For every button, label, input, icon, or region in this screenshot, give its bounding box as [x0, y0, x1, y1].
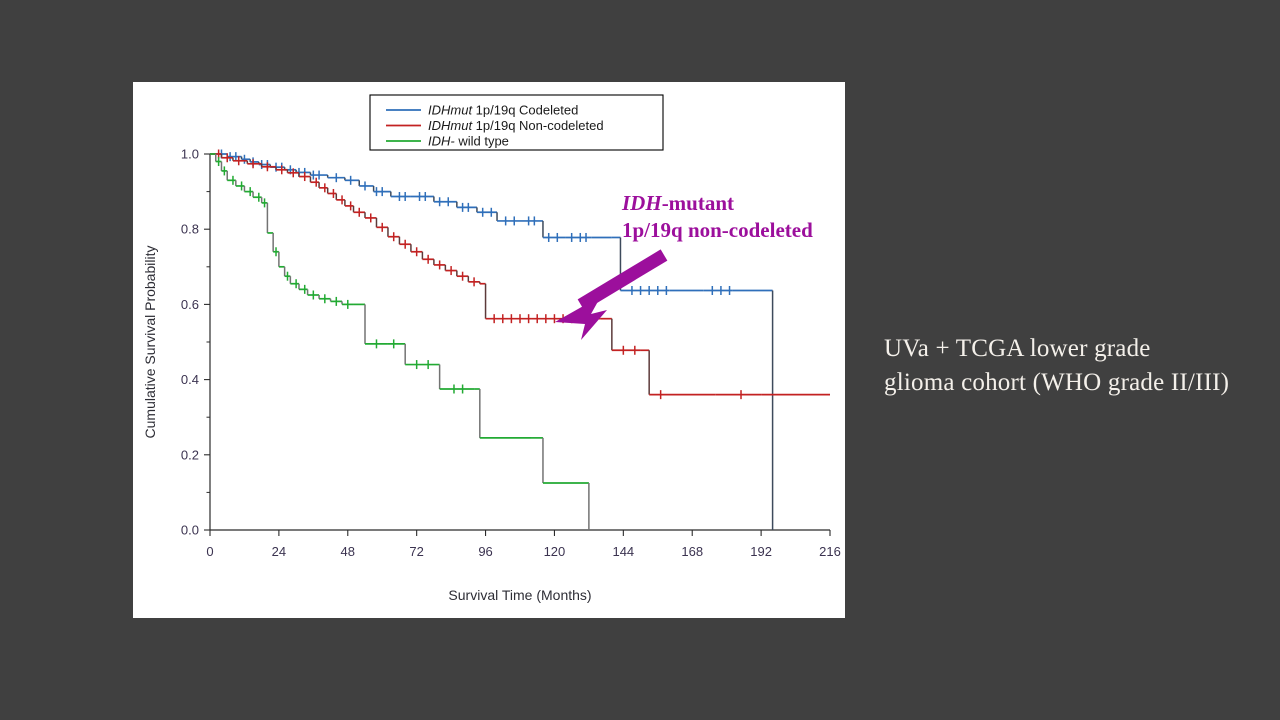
y-tick-label: 0.4 [181, 372, 199, 387]
legend-label: IDHmut 1p/19q Non-codeleted [428, 118, 604, 133]
x-tick-label: 48 [341, 544, 355, 559]
cohort-caption-line-1: UVa + TCGA lower grade [884, 332, 1264, 366]
annotation-line-2: 1p/19q non-codeleted [622, 218, 813, 242]
figure-panel: 024487296120144168192216 0.00.20.40.60.8… [133, 82, 845, 618]
survival-chart: 024487296120144168192216 0.00.20.40.60.8… [133, 82, 845, 618]
annotation-callout: IDH-mutant 1p/19q non-codeleted [555, 191, 813, 340]
x-tick-label: 72 [409, 544, 423, 559]
annotation-line-1: IDH-mutant [621, 191, 734, 215]
x-tick-label: 192 [750, 544, 772, 559]
slide-root: 024487296120144168192216 0.00.20.40.60.8… [0, 0, 1280, 720]
x-tick-label: 144 [612, 544, 634, 559]
y-tick-label: 1.0 [181, 147, 199, 162]
x-axis-ticks: 024487296120144168192216 [206, 530, 840, 559]
y-tick-label: 0.8 [181, 222, 199, 237]
legend-label: IDHmut 1p/19q Codeleted [428, 103, 578, 118]
survival-curve [210, 154, 589, 530]
legend-label: IDH- wild type [428, 134, 509, 149]
survival-curve [210, 150, 830, 400]
y-tick-label: 0.6 [181, 297, 199, 312]
survival-curves [210, 150, 830, 531]
x-tick-label: 168 [681, 544, 703, 559]
x-axis-title: Survival Time (Months) [448, 587, 591, 603]
y-axis-ticks: 0.00.20.40.60.81.0 [181, 147, 210, 538]
y-tick-label: 0.2 [181, 447, 199, 462]
x-tick-label: 120 [544, 544, 566, 559]
y-axis-title: Cumulative Survival Probability [142, 246, 158, 439]
x-tick-label: 24 [272, 544, 286, 559]
y-tick-label: 0.0 [181, 523, 199, 538]
x-tick-label: 216 [819, 544, 841, 559]
x-tick-label: 96 [478, 544, 492, 559]
cohort-caption-line-2: glioma cohort (WHO grade II/III) [884, 366, 1264, 400]
chart-legend: IDHmut 1p/19q CodeletedIDHmut 1p/19q Non… [370, 95, 663, 150]
callout-arrow-icon [555, 255, 664, 340]
chart-axes [210, 154, 830, 530]
x-tick-label: 0 [206, 544, 213, 559]
cohort-caption: UVa + TCGA lower grade glioma cohort (WH… [884, 332, 1264, 400]
